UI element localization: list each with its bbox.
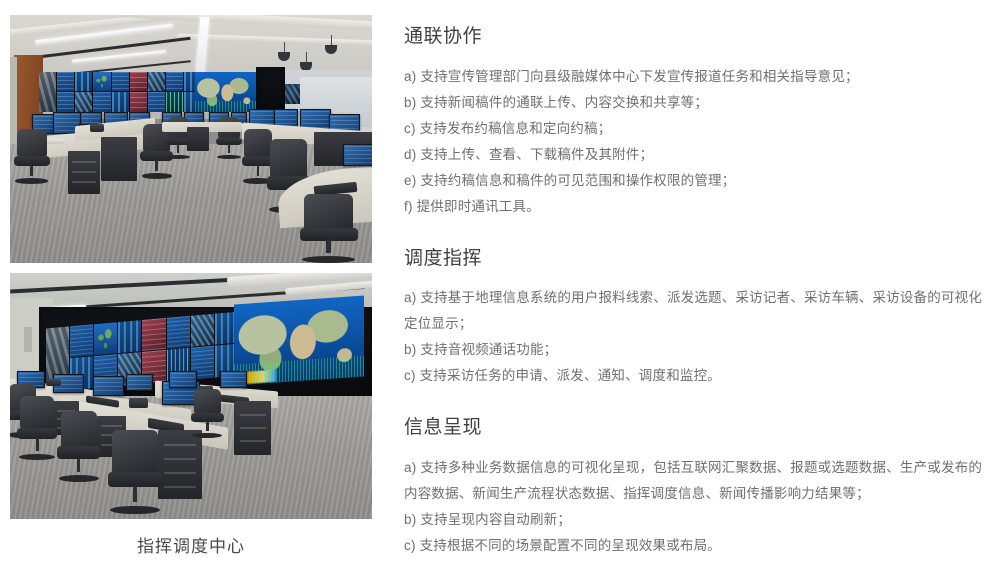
command-center-wide-view-photo (10, 15, 372, 263)
desk-pedestal (187, 127, 209, 152)
office-chair (300, 194, 358, 263)
video-wall-panel (75, 72, 92, 91)
content-sections: 通联协作 a) 支持宣传管理部门向县级融媒体中心下发宣传报道任务和相关指导意见；… (404, 24, 984, 559)
office-chair (14, 129, 50, 184)
chair-base (15, 178, 48, 183)
video-wall-panel (166, 92, 183, 111)
section-list: a) 支持宣传管理部门向县级融媒体中心下发宣传报道任务和相关指导意见； b) 支… (404, 64, 984, 220)
gallery-caption: 指挥调度中心 (10, 535, 372, 559)
photo-scene-1 (10, 15, 372, 263)
list-item: f) 提供即时通讯工具。 (404, 194, 984, 220)
video-wall-panel (119, 320, 142, 353)
video-wall-panel (167, 316, 190, 349)
video-wall-panel (57, 72, 74, 91)
page-root: 指挥调度中心 通联协作 a) 支持宣传管理部门向县级融媒体中心下发宣传报道任务和… (0, 0, 1000, 580)
section-title: 通联协作 (404, 24, 984, 50)
chair-post (177, 144, 179, 152)
desk-pedestal (158, 430, 201, 499)
chair-post (228, 144, 230, 152)
video-wall-panel (130, 92, 147, 111)
chair-base (302, 256, 355, 263)
section-list: a) 支持多种业务数据信息的可视化呈现，包括互联网汇聚数据、报题或选题数据、生产… (404, 455, 984, 559)
desk-pedestal (101, 137, 137, 182)
video-wall-panel (191, 313, 214, 346)
desk-monitor (169, 371, 196, 388)
chair-base (110, 506, 160, 514)
world-map-display (195, 72, 257, 112)
video-wall-panel (94, 322, 117, 355)
list-item: e) 支持约稿信息和稿件的可见范围和操作权限的管理； (404, 168, 984, 194)
desk-monitor (220, 371, 247, 388)
desk-monitor (126, 374, 153, 391)
video-wall-panel (39, 72, 56, 112)
chair-base (192, 433, 222, 438)
chair-back (194, 389, 221, 415)
chair-base (19, 454, 56, 460)
chair-post (133, 486, 137, 503)
list-item: c) 支持采访任务的申请、派发、通知、调度和监控。 (404, 363, 984, 389)
list-item: a) 支持基于地理信息系统的用户报料线索、派发选题、采访记者、采访车辆、采访设备… (404, 285, 984, 337)
command-center-video-wall-photo (10, 273, 372, 519)
list-item: b) 支持呈现内容自动刷新； (404, 507, 984, 533)
chair-post (36, 438, 39, 451)
video-wall-panel (112, 92, 129, 111)
desk-pedestal (234, 401, 270, 455)
office-chair (108, 430, 162, 514)
list-item: a) 支持宣传管理部门向县级融媒体中心下发宣传报道任务和相关指导意见； (404, 64, 984, 90)
section-diaodu-zhihui: 调度指挥 a) 支持基于地理信息系统的用户报料线索、派发选题、采访记者、采访车辆… (404, 246, 984, 390)
video-wall-panel (93, 92, 110, 111)
chair-base (217, 155, 240, 159)
chair-back (17, 129, 47, 157)
list-item: c) 支持发布约稿信息和定向约稿； (404, 116, 984, 142)
chair-post (155, 160, 158, 171)
world-map-display (234, 295, 364, 385)
chair-back (304, 194, 353, 230)
desk-phone (46, 379, 60, 386)
list-item: b) 支持新闻稿件的通联上传、内容交换和共享等； (404, 90, 984, 116)
video-wall-panel (143, 318, 166, 351)
list-item: b) 支持音视频通话功能； (404, 337, 984, 363)
section-title: 调度指挥 (404, 246, 984, 272)
video-wall-panel (166, 72, 183, 91)
list-item: d) 支持上传、查看、下载稿件及其附件； (404, 142, 984, 168)
list-item: a) 支持多种业务数据信息的可视化呈现，包括互联网汇聚数据、报题或选题数据、生产… (404, 455, 984, 507)
office-chair (57, 411, 100, 482)
office-chair (17, 396, 57, 460)
video-wall-panel (148, 92, 165, 111)
video-wall-panel (93, 72, 110, 91)
video-wall-panel (130, 72, 147, 91)
auxiliary-display (285, 84, 299, 104)
chair-back (61, 411, 97, 448)
section-xinxi-chengxian: 信息呈现 a) 支持多种业务数据信息的可视化呈现，包括互联网汇聚数据、报题或选题… (404, 415, 984, 559)
chair-base (142, 173, 172, 178)
photo-gallery: 指挥调度中心 (10, 15, 372, 559)
wall-panel (24, 327, 31, 352)
chair-base (59, 475, 99, 482)
video-wall-panel (75, 92, 92, 111)
photo-scene-2 (10, 273, 372, 519)
chair-post (77, 458, 80, 472)
desk-monitor (93, 376, 124, 395)
chair-back (112, 430, 158, 473)
chair-base (167, 155, 190, 159)
chair-post (326, 239, 331, 253)
section-title: 信息呈现 (404, 415, 984, 441)
desk-phone (90, 124, 104, 131)
desk-monitor (343, 144, 372, 166)
desk-phone (129, 398, 147, 408)
video-wall-panel (70, 324, 93, 357)
video-wall-panel (112, 72, 129, 91)
chair-back (20, 396, 53, 429)
chair-post (206, 421, 209, 431)
section-tonglian-xiezuo: 通联协作 a) 支持宣传管理部门向县级融媒体中心下发宣传报道任务和相关指导意见；… (404, 24, 984, 220)
video-wall-panel (57, 92, 74, 111)
chair-post (257, 165, 260, 176)
desk-pedestal (68, 151, 101, 193)
list-item: c) 支持根据不同的场景配置不同的呈现效果或布局。 (404, 533, 984, 559)
video-wall-panel (148, 72, 165, 91)
office-chair (191, 389, 224, 438)
chair-back (270, 139, 306, 178)
section-list: a) 支持基于地理信息系统的用户报料线索、派发选题、采访记者、采访车辆、采访设备… (404, 285, 984, 389)
chair-post (30, 165, 33, 176)
